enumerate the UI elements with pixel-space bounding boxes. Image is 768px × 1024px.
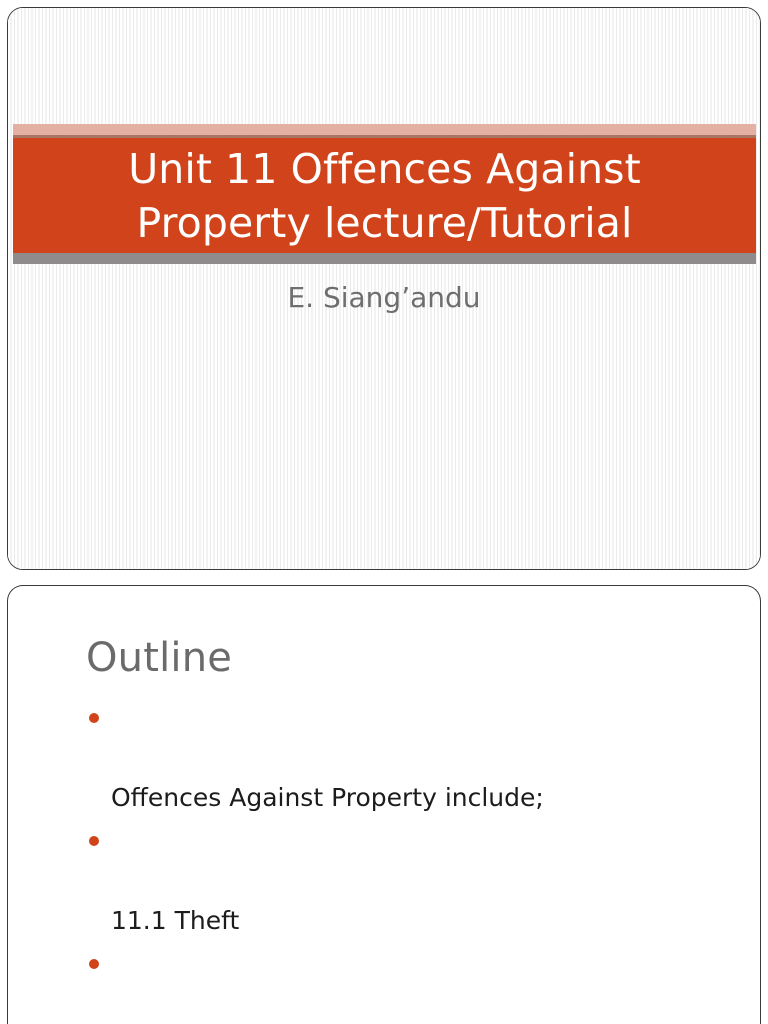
outline-heading: Outline xyxy=(86,634,708,682)
bullet-dot-icon xyxy=(89,959,99,969)
banner-foot-stripe xyxy=(13,253,756,264)
outline-slide[interactable]: Outline Offences Against Property includ… xyxy=(7,585,761,1024)
list-item-label: Offences Against Property include; xyxy=(111,783,544,812)
slide-subtitle-author: E. Siang’andu xyxy=(8,280,760,316)
list-item: 11.2 False Pretences xyxy=(86,946,708,1024)
bullet-dot-icon xyxy=(89,836,99,846)
list-item-label: 11.1 Theft xyxy=(111,906,239,935)
title-slide[interactable]: Unit 11 Offences Against Property lectur… xyxy=(7,7,761,570)
slide-title: Unit 11 Offences Against Property lectur… xyxy=(13,138,756,253)
outline-bullet-list: Offences Against Property include; 11.1 … xyxy=(86,700,708,1024)
list-item: 11.1 Theft xyxy=(86,823,708,940)
presentation-page: Unit 11 Offences Against Property lectur… xyxy=(0,0,768,1024)
banner-accent-stripe xyxy=(13,124,756,135)
outline-content: Outline Offences Against Property includ… xyxy=(8,586,760,1024)
list-item: Offences Against Property include; xyxy=(86,700,708,817)
bullet-dot-icon xyxy=(89,713,99,723)
